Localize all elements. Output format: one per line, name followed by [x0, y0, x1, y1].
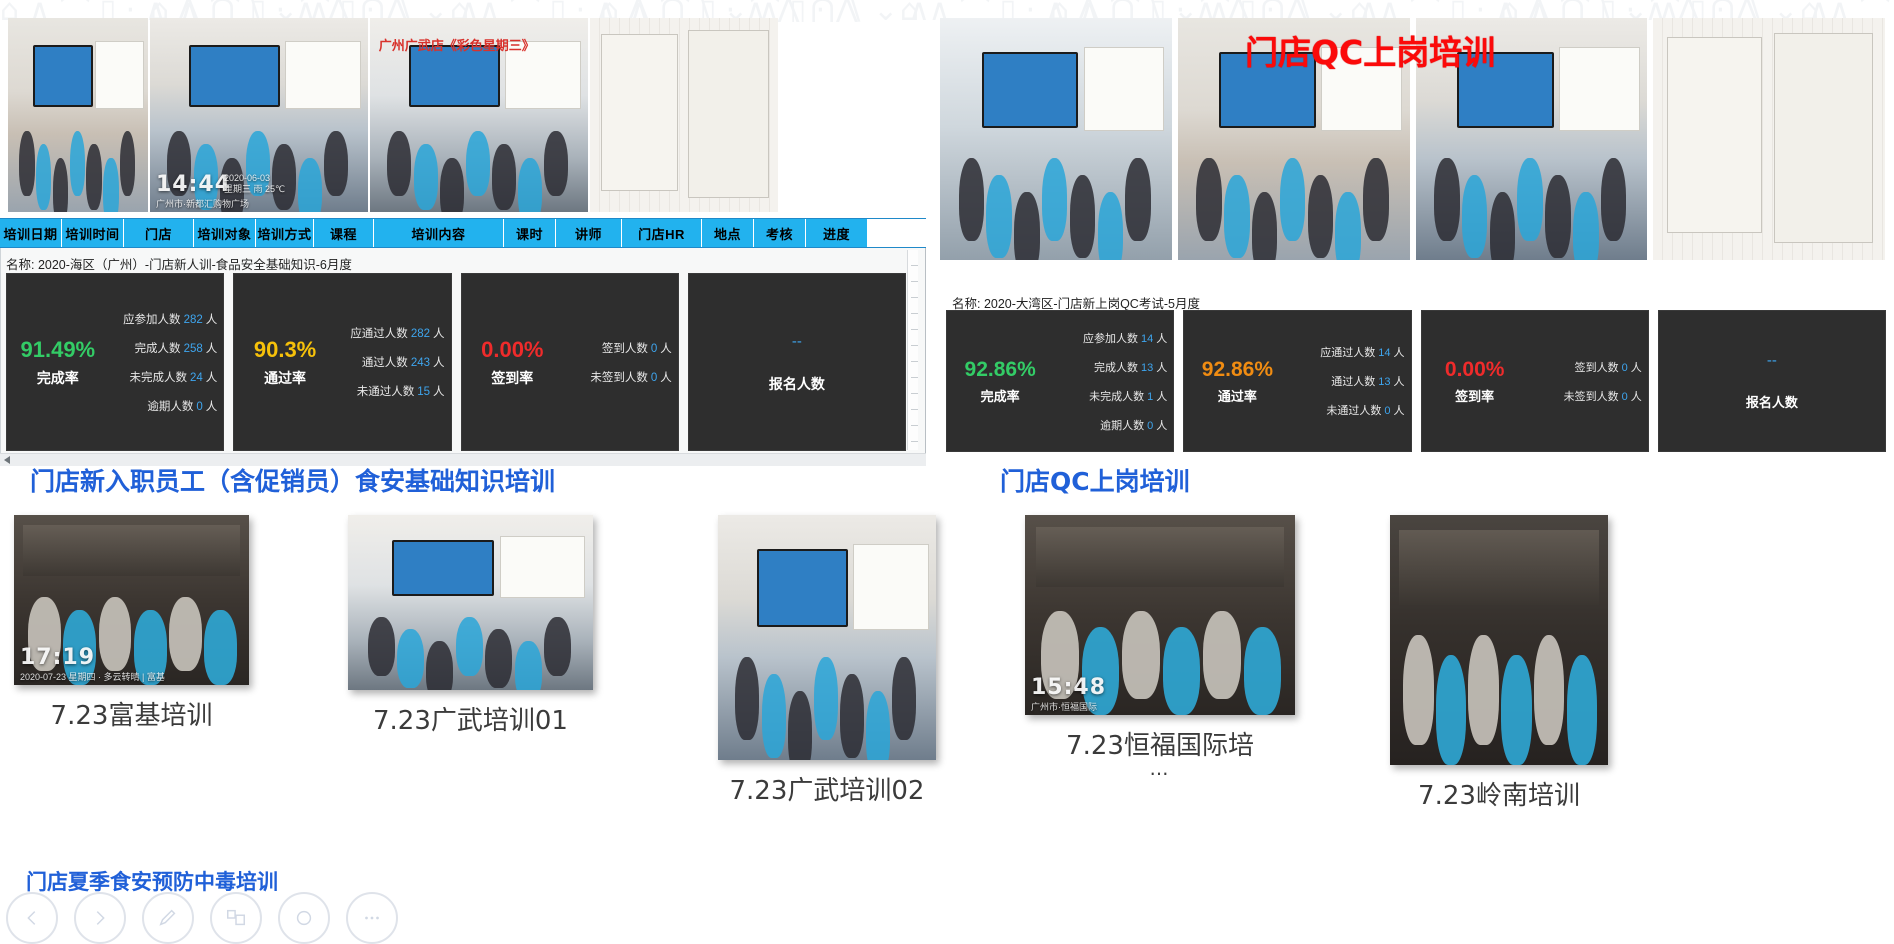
photo-qc-signin-sheet	[1653, 18, 1885, 260]
kitchen-hood-shape	[23, 525, 239, 576]
kpi-stat-label: 应参加人数	[1083, 333, 1138, 345]
training-table-header: 培训日期培训时间门店培训对象培训方式课程培训内容课时讲师门店HR地点考核进度	[0, 218, 926, 248]
photo-image	[940, 18, 1172, 260]
table-header-label: 培训内容	[411, 224, 465, 243]
scrollbar-tick	[911, 314, 918, 330]
person-shape	[86, 144, 101, 210]
gallery-photo: 15:48广州市·恒福国际	[1025, 515, 1295, 715]
gallery-caption: 7.23富基培训	[51, 703, 213, 730]
whiteboard-shape	[853, 544, 929, 629]
kpi-stat-label: 逾期人数	[1100, 420, 1144, 432]
kpi-stat-row-2: 未签到人数0人	[590, 369, 671, 385]
gallery-caption-text: 7.23广武培训01	[373, 706, 568, 736]
kpi-stat-value: 0	[1622, 391, 1628, 403]
kpi-caption: 报名人数	[1746, 396, 1798, 409]
kpi-caption: 通过率	[1218, 390, 1257, 403]
gallery-caption: 7.23广武培训01	[373, 708, 568, 735]
person-shape	[466, 131, 490, 197]
gallery-item-2: 7.23广武培训01	[348, 515, 593, 735]
kpi-caption: 通过率	[264, 371, 306, 385]
kpi-stat-unit: 人	[1394, 376, 1405, 388]
person-shape	[1244, 627, 1282, 715]
kpi-stat-unit: 人	[433, 328, 445, 340]
right-report-panel: 名称: 2020-大湾区-门店新上岗QC考试-5月度 92.86%完成率应参加人…	[940, 18, 1890, 458]
table-header-9[interactable]: 讲师	[556, 219, 622, 247]
kpi-stat-label: 应通过人数	[350, 328, 408, 340]
table-header-label: 门店HR	[638, 224, 685, 243]
kpi-stat-unit: 人	[1156, 362, 1167, 374]
person-shape	[1490, 192, 1515, 260]
tv-screen-shape	[982, 52, 1079, 129]
person-shape	[1125, 158, 1150, 240]
kpi-stat-label: 未完成人数	[129, 372, 187, 384]
kpi-stat-unit: 人	[206, 372, 218, 384]
scrollbar-tick	[911, 410, 918, 426]
more-options-icon[interactable]	[346, 892, 398, 944]
table-header-label: 培训时间	[65, 224, 119, 243]
table-header-label: 地点	[714, 224, 741, 243]
table-header-11[interactable]: 地点	[702, 219, 754, 247]
kpi-stat-label: 签到人数	[602, 343, 648, 355]
whiteboard-shape	[95, 41, 145, 109]
kpi-stat-label: 通过人数	[362, 357, 408, 369]
kpi-stat-label: 逾期人数	[147, 401, 193, 413]
photo-timestamp: 15:48	[1031, 677, 1106, 699]
table-header-2[interactable]: 培训时间	[62, 219, 124, 247]
gallery-photo: 17:192020-07-23 星期四 · 多云转晴 | 富基	[14, 515, 249, 685]
scrollbar-tick	[911, 346, 918, 362]
kpi-stat-value: 282	[184, 314, 203, 326]
whiteboard-shape	[500, 536, 585, 598]
photo-store-class: 广州广武店《彩色星期三》	[370, 18, 588, 212]
person-shape	[1363, 158, 1388, 240]
gallery-caption-text: 7.23广武培训02	[730, 776, 925, 806]
person-shape	[1573, 192, 1598, 260]
person-shape	[1224, 175, 1249, 257]
kpi-stat-value: 0	[1622, 362, 1628, 374]
photo-image	[1653, 18, 1885, 260]
person-shape	[36, 144, 51, 210]
kpi-rate-value: 92.86%	[1202, 359, 1273, 380]
qc-training-red-banner: 门店QC上岗培训	[1245, 26, 1495, 74]
kpi-stat-label: 未通过人数	[1326, 405, 1381, 417]
person-shape	[1601, 158, 1626, 240]
kpi-rate-value: 91.49%	[21, 339, 96, 361]
kpi-card-2: 92.86%通过率应通过人数14人通过人数13人未通过人数0人	[1183, 310, 1411, 452]
person-shape	[440, 158, 464, 212]
kpi-stat-value: 0	[651, 372, 657, 384]
left-record-name: 名称: 2020-海区（广州）-门店新人训-食品安全基础知识-6月度	[6, 254, 352, 273]
person-shape	[1436, 655, 1467, 765]
kpi-stat-unit: 人	[206, 314, 218, 326]
kpi-caption: 完成率	[37, 371, 79, 385]
layout-grid-icon[interactable]	[210, 892, 262, 944]
gallery-caption: 7.23恒福国际培…	[1066, 733, 1254, 780]
kpi-stat-row-2: 完成人数258人	[135, 340, 218, 356]
kpi-card-4: --报名人数	[1658, 310, 1886, 452]
photo-signin-sheets	[590, 18, 778, 212]
gallery-caption: 7.23广武培训02	[730, 778, 925, 805]
scrollbar-tick	[911, 378, 918, 394]
person-shape	[515, 641, 542, 690]
kpi-stat-row-2: 未签到人数0人	[1564, 388, 1642, 404]
scrollbar-tick	[911, 330, 918, 346]
kpi-stat-value: 15	[417, 386, 430, 398]
kpi-stat-row-3: 未完成人数24人	[129, 369, 217, 385]
person-shape	[414, 144, 438, 210]
person-shape	[169, 597, 202, 672]
person-shape	[1567, 655, 1598, 765]
gallery-photo	[348, 515, 593, 690]
scrollbar-tick	[911, 250, 918, 266]
person-shape	[762, 674, 786, 757]
left-vertical-scrollbar[interactable]	[907, 250, 918, 450]
person-shape	[1252, 192, 1277, 260]
kpi-stat-value: 243	[411, 357, 430, 369]
left-photo-strip: 14:442020-06-03星期三 雨 25℃广州市·新都汇购物广场广州广武店…	[8, 18, 920, 212]
table-header-label: 培训日期	[3, 224, 57, 243]
person-shape	[1308, 175, 1333, 257]
person-shape	[1122, 611, 1160, 699]
photo-image	[8, 18, 148, 212]
person-shape	[1403, 635, 1434, 745]
kpi-stat-value: 282	[411, 328, 430, 340]
kpi-rate-value: 0.00%	[1445, 359, 1505, 380]
kpi-stats-block: 签到人数0人未签到人数0人	[1524, 311, 1642, 451]
table-header-1[interactable]: 培训日期	[0, 219, 62, 247]
person-shape	[735, 657, 759, 740]
person-shape	[324, 131, 348, 197]
table-header-10[interactable]: 门店HR	[622, 219, 702, 247]
kpi-stat-unit: 人	[433, 357, 445, 369]
kpi-stat-unit: 人	[1156, 391, 1167, 403]
kpi-stat-value: 24	[190, 372, 203, 384]
tv-screen-shape	[409, 45, 500, 107]
kpi-rate-block: 91.49%完成率	[7, 274, 109, 450]
kpi-rate-value: 92.86%	[965, 359, 1036, 380]
kpi-stat-value: 13	[1141, 362, 1153, 374]
person-shape	[368, 617, 395, 677]
photo-trainer-screen	[8, 18, 148, 212]
kpi-stat-unit: 人	[206, 401, 218, 413]
kpi-rate-block: 0.00%签到率	[462, 274, 564, 450]
kpi-stat-row-4: 逾期人数0人	[1100, 417, 1167, 433]
table-header-label: 考核	[766, 224, 793, 243]
photo-image	[348, 515, 593, 690]
table-header-7[interactable]: 培训内容	[374, 219, 504, 247]
kpi-stat-unit: 人	[1394, 405, 1405, 417]
tv-screen-shape	[189, 45, 280, 107]
gallery-caption-text: 7.23恒福国际培	[1066, 731, 1254, 761]
next-arrow-icon[interactable]	[74, 892, 126, 944]
paper-sheet-shape	[1667, 37, 1762, 233]
kpi-stat-row-1: 签到人数0人	[1575, 359, 1642, 375]
person-shape	[53, 158, 68, 212]
kpi-stat-label: 应通过人数	[1320, 347, 1375, 359]
left-report-panel: 14:442020-06-03星期三 雨 25℃广州市·新都汇购物广场广州广武店…	[0, 18, 926, 463]
kpi-stat-label: 未签到人数	[590, 372, 648, 384]
table-header-13[interactable]: 进度	[806, 219, 868, 247]
person-shape	[959, 158, 984, 240]
person-shape	[788, 691, 812, 760]
person-shape	[1196, 158, 1221, 240]
kpi-stat-value: 0	[1384, 405, 1390, 417]
kpi-stat-label: 未完成人数	[1089, 391, 1144, 403]
kpi-stat-row-1: 应参加人数282人	[123, 311, 217, 327]
person-shape	[1335, 192, 1360, 260]
pen-edit-icon[interactable]	[142, 892, 194, 944]
person-shape	[298, 158, 322, 212]
person-shape	[1203, 611, 1241, 699]
gallery-item-5: 7.23岭南培训	[1390, 515, 1608, 810]
table-header-label: 培训方式	[257, 224, 311, 243]
photo-date-weather: 2020-06-03星期三 雨 25℃	[224, 173, 285, 196]
kpi-rate-block: 92.86%完成率	[947, 311, 1053, 451]
person-shape	[19, 131, 34, 197]
scroll-left-arrow-icon[interactable]	[4, 456, 10, 464]
person-shape	[387, 131, 411, 197]
person-shape	[1517, 158, 1542, 240]
photo-timestamp: 17:19	[20, 647, 95, 669]
kpi-stats-block: 应参加人数14人完成人数13人未完成人数1人逾期人数0人	[1050, 311, 1168, 451]
kpi-stats-block: 应通过人数282人通过人数243人未通过人数15人	[332, 274, 444, 450]
photo-image	[590, 18, 778, 212]
gallery-caption-text: 7.23岭南培训	[1418, 781, 1580, 811]
slide-canvas: ⌂ ∧ ⌒ ▯ · ∧ ⋀ ⋂ ∖ ⌄ ∧⌂ ∧ ⌒ ▯ · ∧ ⋀ ⋂ ∖ ⌄…	[0, 0, 1894, 913]
wall-banner-text: 广州广武店《彩色星期三》	[379, 35, 535, 54]
person-shape	[492, 144, 516, 210]
person-shape	[840, 674, 864, 757]
kpi-card-2: 90.3%通过率应通过人数282人通过人数243人未通过人数15人	[233, 273, 451, 451]
photo-image	[1390, 515, 1608, 765]
kpi-value: --	[792, 334, 802, 349]
kpi-stat-row-1: 应参加人数14人	[1083, 330, 1167, 346]
scrollbar-tick	[911, 298, 918, 314]
table-header-label: 课时	[516, 224, 543, 243]
kpi-card-1: 91.49%完成率应参加人数282人完成人数258人未完成人数24人逾期人数0人	[6, 273, 224, 451]
person-shape	[1163, 627, 1201, 715]
person-shape	[204, 610, 237, 685]
scrollbar-tick	[911, 394, 918, 410]
whiteboard-shape	[1559, 47, 1640, 131]
kpi-card-1: 92.86%完成率应参加人数14人完成人数13人未完成人数1人逾期人数0人	[946, 310, 1174, 452]
gallery-item-4: 15:48广州市·恒福国际7.23恒福国际培…	[1025, 515, 1295, 780]
kpi-stats-block: 签到人数0人未签到人数0人	[559, 274, 671, 450]
tv-screen-shape	[757, 549, 848, 627]
photo-timestamp: 14:44	[156, 174, 231, 196]
person-shape	[986, 175, 1011, 257]
person-shape	[1462, 175, 1487, 257]
gallery-caption-text: 7.23富基培训	[51, 701, 213, 731]
kpi-value: --	[1767, 353, 1777, 368]
kpi-stat-row-2: 通过人数13人	[1331, 373, 1404, 389]
person-shape	[426, 641, 453, 690]
paper-sheet-shape	[601, 34, 678, 191]
kpi-rate-block: 0.00%签到率	[1422, 311, 1528, 451]
person-shape	[70, 131, 85, 197]
kpi-stat-row-4: 逾期人数0人	[147, 398, 217, 414]
person-shape	[814, 657, 838, 740]
photo-location: 广州市·恒福国际	[1031, 702, 1097, 713]
table-header-5[interactable]: 培训方式	[256, 219, 314, 247]
kpi-caption: 签到率	[1455, 390, 1494, 403]
kpi-stat-value: 0	[651, 343, 657, 355]
kpi-rate-block: 90.3%通过率	[234, 274, 336, 450]
kpi-stat-row-3: 未通过人数15人	[357, 383, 445, 399]
person-shape	[103, 158, 118, 212]
kpi-stat-row-1: 签到人数0人	[602, 340, 672, 356]
table-header-12[interactable]: 考核	[754, 219, 806, 247]
person-shape	[1434, 158, 1459, 240]
photo-location: 2020-07-23 星期四 · 多云转晴 | 富基	[20, 672, 165, 683]
photo-meeting-room: 14:442020-06-03星期三 雨 25℃广州市·新都汇购物广场	[150, 18, 368, 212]
kpi-rate-value: 0.00%	[481, 339, 543, 361]
person-shape	[1042, 158, 1067, 240]
kpi-stat-label: 未通过人数	[357, 386, 415, 398]
section-title-new-employee: 门店新入职员工（含促销员）食安基础知识培训	[30, 462, 555, 498]
tv-screen-shape	[392, 540, 494, 597]
gallery-photo	[718, 515, 936, 760]
person-shape	[99, 597, 132, 672]
whiteboard-shape	[285, 41, 361, 109]
kpi-stat-label: 未签到人数	[1564, 391, 1619, 403]
gallery-item-1: 17:192020-07-23 星期四 · 多云转晴 | 富基7.23富基培训	[14, 515, 249, 730]
kpi-stat-label: 通过人数	[1331, 376, 1375, 388]
table-header-3[interactable]: 门店	[124, 219, 194, 247]
table-header-4[interactable]: 培训对象	[194, 219, 256, 247]
bottom-toolbar	[0, 892, 426, 913]
photo-image	[718, 515, 936, 760]
person-shape	[892, 657, 916, 740]
kpi-stat-label: 完成人数	[135, 343, 181, 355]
person-shape	[1534, 635, 1565, 745]
person-shape	[866, 691, 890, 760]
kpi-stats-block: 应参加人数282人完成人数258人未完成人数24人逾期人数0人	[105, 274, 217, 450]
person-shape	[1545, 175, 1570, 257]
scrollbar-tick	[911, 266, 918, 282]
kpi-stat-row-3: 未通过人数0人	[1326, 402, 1404, 418]
kpi-stat-unit: 人	[660, 343, 672, 355]
photo-date: 2020-06-03	[224, 173, 285, 185]
paper-sheet-shape	[688, 30, 769, 199]
kpi-stat-row-1: 应通过人数14人	[1320, 344, 1404, 360]
kpi-stat-unit: 人	[1156, 333, 1167, 345]
bottom-photo-gallery: 17:192020-07-23 星期四 · 多云转晴 | 富基7.23富基培训7…	[0, 515, 1894, 855]
person-shape	[1098, 192, 1123, 260]
person-shape	[1014, 192, 1039, 260]
kpi-stat-value: 258	[184, 343, 203, 355]
kpi-stat-value: 14	[1141, 333, 1153, 345]
kpi-stat-row-2: 完成人数13人	[1094, 359, 1167, 375]
scrollbar-tick	[911, 282, 918, 298]
kpi-rate-value: 90.3%	[254, 339, 316, 361]
kpi-rate-block: 92.86%通过率	[1184, 311, 1290, 451]
kpi-caption: 报名人数	[769, 377, 825, 391]
person-shape	[485, 629, 512, 689]
kpi-caption: 签到率	[491, 371, 533, 385]
person-shape	[456, 617, 483, 677]
photo-weather: 星期三 雨 25℃	[224, 184, 285, 196]
kpi-stat-label: 完成人数	[1094, 362, 1138, 374]
person-shape	[1070, 175, 1095, 257]
gallery-caption: 7.23岭南培训	[1418, 783, 1580, 810]
kpi-stats-block: 应通过人数14人通过人数13人未通过人数0人	[1287, 311, 1405, 451]
kpi-stat-value: 14	[1378, 347, 1390, 359]
person-shape	[518, 158, 542, 212]
kitchen-hood-shape	[1399, 530, 1600, 605]
person-shape	[120, 131, 135, 197]
paper-sheet-shape	[1774, 33, 1873, 243]
table-header-label: 门店	[145, 224, 172, 243]
gallery-photo	[1390, 515, 1608, 765]
person-shape	[397, 629, 424, 689]
prev-arrow-icon[interactable]	[6, 892, 58, 944]
person-shape	[544, 131, 568, 197]
kpi-stat-label: 应参加人数	[123, 314, 181, 326]
photo-location: 广州市·新都汇购物广场	[156, 199, 249, 210]
table-header-8[interactable]: 课时	[504, 219, 556, 247]
table-header-label: 进度	[823, 224, 850, 243]
kpi-stat-unit: 人	[660, 372, 672, 384]
kpi-card-4: --报名人数	[688, 273, 906, 451]
kpi-stat-value: 13	[1378, 376, 1390, 388]
photo-qc-room-1	[940, 18, 1172, 260]
scrollbar-tick	[911, 426, 918, 442]
person-shape	[1280, 158, 1305, 240]
left-kpi-row: 91.49%完成率应参加人数282人完成人数258人未完成人数24人逾期人数0人…	[6, 273, 906, 451]
kpi-stat-row-1: 应通过人数282人	[350, 325, 444, 341]
table-header-label: 培训对象	[197, 224, 251, 243]
kitchen-hood-shape	[1036, 527, 1284, 587]
gallery-item-3: 7.23广武培训02	[718, 515, 936, 805]
kpi-stat-unit: 人	[1631, 362, 1642, 374]
kpi-card-3: 0.00%签到率签到人数0人未签到人数0人	[1421, 310, 1649, 452]
whiteboard-shape	[1084, 47, 1165, 131]
scrollbar-tick	[911, 362, 918, 378]
right-kpi-row: 92.86%完成率应参加人数14人完成人数13人未完成人数1人逾期人数0人92.…	[946, 310, 1886, 452]
zoom-circle-icon[interactable]	[278, 892, 330, 944]
gallery-caption-ellipsis: …	[1066, 760, 1254, 780]
kpi-stat-unit: 人	[433, 386, 445, 398]
kpi-caption: 完成率	[981, 390, 1020, 403]
kpi-stat-unit: 人	[1631, 391, 1642, 403]
kpi-stat-row-3: 未完成人数1人	[1089, 388, 1167, 404]
kpi-stat-label: 签到人数	[1575, 362, 1619, 374]
person-shape	[1468, 635, 1499, 745]
kpi-stat-value: 0	[196, 401, 202, 413]
kpi-stat-value: 1	[1147, 391, 1153, 403]
kpi-stat-unit: 人	[1394, 347, 1405, 359]
kpi-stat-value: 0	[1147, 420, 1153, 432]
kpi-card-3: 0.00%签到率签到人数0人未签到人数0人	[461, 273, 679, 451]
person-shape	[544, 617, 571, 677]
section-title-qc: 门店QC上岗培训	[1000, 462, 1190, 498]
kpi-stat-row-2: 通过人数243人	[362, 354, 445, 370]
person-shape	[1501, 655, 1532, 765]
table-header-label: 课程	[330, 224, 357, 243]
table-header-label: 讲师	[575, 224, 602, 243]
kpi-stat-unit: 人	[1156, 420, 1167, 432]
tv-screen-shape	[33, 45, 93, 107]
kpi-stat-unit: 人	[206, 343, 218, 355]
table-header-6[interactable]: 课程	[314, 219, 374, 247]
